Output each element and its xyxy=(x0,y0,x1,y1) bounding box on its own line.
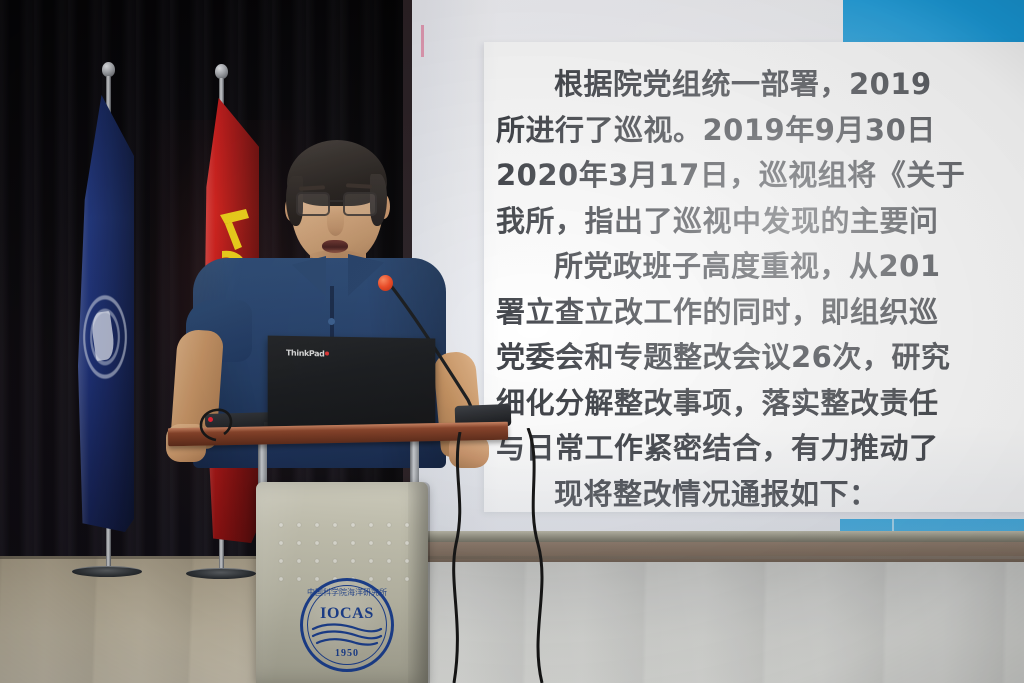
slide-text-line: 党委会和专题整改会议26次，研究 xyxy=(496,335,1024,381)
flag-stand-left xyxy=(72,566,142,577)
slide-text-line: 现将整改情况通报如下： xyxy=(496,472,1024,518)
slide-body-text: 根据院党组统一部署，2019所进行了巡视。2019年9月30日2020年3月17… xyxy=(496,62,1024,517)
floor-tile-right xyxy=(404,562,1024,683)
laptop-brand-logo: ThinkPad xyxy=(286,348,329,358)
slide-text-line: 所党政班子高度重视，从201 xyxy=(496,244,1024,290)
slide-text-line: 署立查立改工作的同时，即组织巡 xyxy=(496,290,1024,336)
polo-button xyxy=(328,318,335,325)
microphone-led-indicator xyxy=(208,417,213,422)
iocas-logo-wave-motif xyxy=(310,621,384,649)
microphone-windscreen xyxy=(378,275,393,291)
wall-baseboard xyxy=(404,542,1024,563)
slide-text-line: 细化分解整改事项，落实整改责任 xyxy=(496,381,1024,427)
iocas-logo-chinese-name: 中国科学院海洋研究所 xyxy=(300,587,394,598)
iocas-logo-founding-year: 1950 xyxy=(300,648,394,659)
slide-text-line: 所进行了巡视。2019年9月30日 xyxy=(496,108,1024,154)
conference-photo-scene: 根据院党组统一部署，2019所进行了巡视。2019年9月30日2020年3月17… xyxy=(0,0,1024,683)
laptop-brand-text: ThinkPad xyxy=(286,348,324,358)
flag-stand-right xyxy=(186,568,256,579)
slide-text-line: 2020年3月17日，巡视组将《关于 xyxy=(496,153,1024,199)
slide-text-line: 我所，指出了巡视中发现的主要问 xyxy=(496,199,1024,245)
thinkpad-red-dot xyxy=(325,351,329,355)
eyeglasses-lens-right xyxy=(343,192,377,216)
iocas-logo: 中国科学院海洋研究所 IOCAS 1950 xyxy=(300,578,394,672)
slide-text-line: 根据院党组统一部署，2019 xyxy=(496,62,1024,108)
speaker-nose xyxy=(327,208,344,236)
eyeglasses-lens-left xyxy=(296,192,330,216)
flagpole-finial-right xyxy=(215,64,228,79)
slide-blue-banner-top xyxy=(843,0,1024,42)
slide-text-line: 与日常工作紧密结合，有力推动了 xyxy=(496,426,1024,472)
eyeglasses-bridge xyxy=(330,200,344,202)
flagpole-finial-left xyxy=(102,62,115,77)
iocas-logo-acronym: IOCAS xyxy=(300,605,394,623)
slide-pink-tick-mark xyxy=(421,25,424,57)
floor-seam-line xyxy=(0,556,1024,559)
